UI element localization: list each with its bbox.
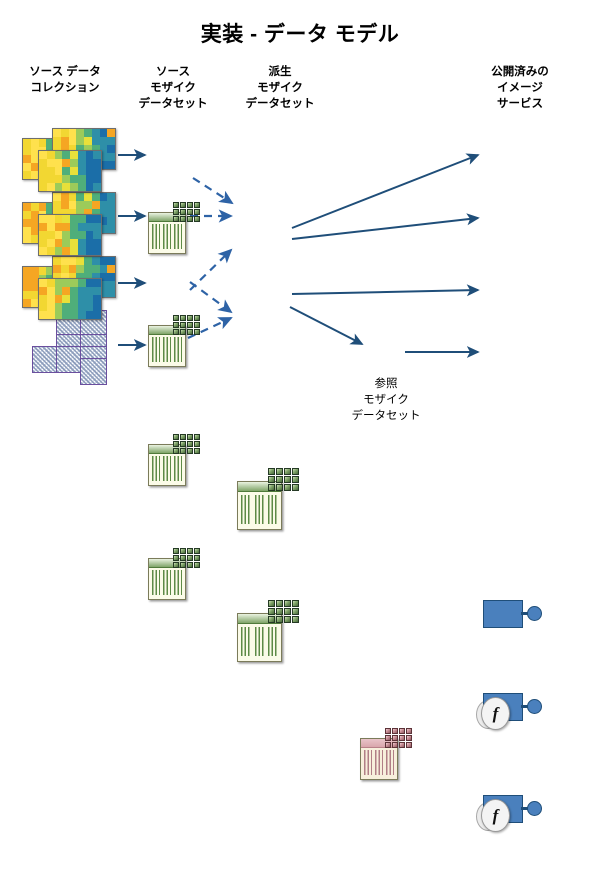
raster-cell [62,151,70,159]
mosaic-tile [385,742,391,748]
mosaic-tile [399,742,405,748]
raster-cell [62,295,70,303]
raster-cell [70,151,78,159]
mosaic-table-column [152,224,160,249]
mosaic-tile [180,216,186,222]
raster-cell [39,203,47,211]
mosaic-table-column [386,750,394,775]
mosaic-tile [292,484,299,491]
raster-cell [55,183,63,191]
source-mosaic-4[interactable] [148,548,200,600]
mosaic-table-column [163,570,171,595]
raster-cell [55,167,63,175]
raster-cell [62,159,70,167]
mosaic-tile [385,728,391,734]
raster-cell [39,247,47,255]
raster-cell [107,273,115,281]
column-header-line: サービス [455,96,585,112]
raster-cell [62,287,70,295]
service-endpoint-dot [527,801,542,816]
raster-cell [93,175,101,183]
arrow-mosaic1-to-derived1 [193,178,232,203]
mosaic-tile [292,616,299,623]
raster-cell [23,171,31,179]
mosaic-tile [292,600,299,607]
source-mosaic-3[interactable] [148,434,200,486]
raster-cell [93,231,101,239]
mosaic-tile [268,476,275,483]
raster-cell [62,247,70,255]
raster-cell [55,239,63,247]
arrow-derived1-to-service2 [292,218,478,239]
arrow-mosaic3-to-derived2 [190,282,231,312]
raster-cell [53,193,61,201]
mosaic-tile [173,562,179,568]
mosaic-tile-grid [173,202,200,222]
mosaic-tile [187,322,193,328]
raster-cell [53,265,61,273]
mosaic-tile [180,329,186,335]
raster-cell [61,193,69,201]
source-mosaic-2[interactable] [148,315,200,367]
raster-cell [39,311,47,319]
mosaic-tile-grid [173,315,200,335]
raster-cell [55,231,63,239]
raster-cell [47,183,55,191]
mosaic-tile [276,600,283,607]
mosaic-tile [194,209,200,215]
raster-cell [53,129,61,137]
raster-cell [78,311,86,319]
mosaic-table-column [255,495,264,524]
mosaic-table-column [241,495,250,524]
mosaic-tile [406,742,412,748]
mosaic-table-column [174,224,182,249]
raster-cell [23,155,31,163]
raster-cell [55,159,63,167]
mosaic-tile [292,476,299,483]
mosaic-tile [392,728,398,734]
column-header-line: コレクション [10,80,120,96]
raster-cell [47,223,55,231]
mosaic-tile [194,322,200,328]
arrow-mosaic3-to-derived1 [190,250,231,290]
raster-cell [70,183,78,191]
raster-cell [78,223,86,231]
raster-cell [62,167,70,175]
raster-cell [107,129,115,137]
raster-cell [107,145,115,153]
raster-cell [39,139,47,147]
raster-cell [107,153,115,161]
raster-cell [86,303,94,311]
raster-cell [100,201,108,209]
mosaic-tile [385,735,391,741]
raster-cell [76,257,84,265]
service-endpoint-dot [527,606,542,621]
mosaic-tile [194,315,200,321]
raster-cell [78,175,86,183]
column-header-derived-mosaic-dataset: 派生 モザイク データセット [225,64,335,112]
source-collection-2[interactable] [22,192,122,254]
mosaic-tile [187,448,193,454]
raster-cell [39,279,47,287]
column-header-line: モザイク [125,80,221,96]
mosaic-tile [173,448,179,454]
caption-line: データセット [306,408,466,424]
raster-thumbnail [38,150,102,192]
raster-cell [86,239,94,247]
mosaic-tile [276,468,283,475]
raster-cell [23,163,31,171]
mosaic-tile [180,202,186,208]
arrow-derived2-to-referenced [290,307,362,344]
raster-cell [69,257,77,265]
source-collection-1[interactable] [22,128,122,190]
raster-cell [23,219,31,227]
raster-cell [39,287,47,295]
raster-cell [84,265,92,273]
raster-cell [70,295,78,303]
raster-cell [78,231,86,239]
raster-cell [55,223,63,231]
raster-cell [47,303,55,311]
mosaic-tile [187,555,193,561]
raster-cell [62,223,70,231]
raster-cell [107,137,115,145]
raster-cell [76,201,84,209]
raster-cell [100,265,108,273]
raster-cell [47,167,55,175]
raster-cell [55,303,63,311]
mosaic-table-column [152,570,160,595]
raster-cell [107,289,115,297]
raster-cell [62,311,70,319]
tile [80,358,107,385]
raster-cell [86,183,94,191]
mosaic-table-column [163,456,171,481]
raster-cell [86,231,94,239]
column-header-line: 派生 [225,64,335,80]
raster-cell [84,201,92,209]
raster-cell [70,247,78,255]
mosaic-tile [284,476,291,483]
raster-cell [62,303,70,311]
raster-cell [70,167,78,175]
column-header-line: データセット [225,96,335,112]
image-service-3[interactable]: f [483,793,541,823]
tile [56,346,83,373]
mosaic-table-rows [152,337,182,362]
raster-cell [53,201,61,209]
raster-cell [55,311,63,319]
mosaic-tile [187,216,193,222]
raster-cell [86,247,94,255]
tile [32,346,59,373]
mosaic-tile [399,735,405,741]
referenced-mosaic[interactable] [360,728,412,780]
raster-cell [55,175,63,183]
mosaic-tile-grid [173,434,200,454]
raster-cell [78,151,86,159]
mosaic-table-column [268,495,277,524]
mosaic-tile [292,608,299,615]
raster-cell [78,295,86,303]
column-header-line: モザイク [225,80,335,96]
raster-cell [107,217,115,225]
mosaic-table-column [152,337,160,362]
raster-cell [23,227,31,235]
raster-cell [86,215,94,223]
column-header-line: データセット [125,96,221,112]
raster-cell [23,211,31,219]
raster-cell [78,239,86,247]
mosaic-tile [180,555,186,561]
mosaic-tile-grid [173,548,200,568]
mosaic-tile [194,448,200,454]
raster-cell [92,265,100,273]
raster-cell [78,287,86,295]
raster-cell [39,175,47,183]
raster-cell [47,311,55,319]
mosaic-tile [180,548,186,554]
raster-cell [62,231,70,239]
raster-cell [61,265,69,273]
raster-cell [86,175,94,183]
mosaic-tile [276,484,283,491]
mosaic-table-column [268,627,277,656]
service-endpoint-dot [527,699,542,714]
raster-cell [70,287,78,295]
raster-cell [70,215,78,223]
mosaic-tile [276,616,283,623]
mosaic-table-rows [152,224,182,249]
raster-cell [31,139,39,147]
raster-cell [62,239,70,247]
raster-cell [61,257,69,265]
raster-cell [55,151,63,159]
raster-cell [76,137,84,145]
mosaic-tile [187,548,193,554]
raster-cell [93,167,101,175]
mosaic-tile [173,548,179,554]
raster-cell [78,247,86,255]
mosaic-tile [284,468,291,475]
raster-cell [55,247,63,255]
raster-cell [39,215,47,223]
source-collection-3[interactable] [22,256,122,318]
mosaic-tile [194,548,200,554]
mosaic-tile [173,322,179,328]
caption-line: 参照 [306,376,466,392]
raster-cell [93,239,101,247]
raster-cell [78,167,86,175]
raster-cell [107,257,115,265]
raster-cell [70,303,78,311]
raster-cell [70,239,78,247]
derived-mosaic-2[interactable] [237,600,299,662]
raster-cell [93,159,101,167]
mosaic-tile [187,209,193,215]
mosaic-table-column [152,456,160,481]
raster-cell [70,311,78,319]
mosaic-tile [194,329,200,335]
mosaic-tile [187,329,193,335]
mosaic-table-column [375,750,383,775]
raster-cell [100,137,108,145]
page-title: 実装 - データ モデル [0,18,600,48]
referenced-mosaic-caption: 参照 モザイク データセット [306,376,466,424]
raster-cell [53,257,61,265]
raster-cell [23,203,31,211]
raster-cell [92,129,100,137]
mosaic-table-column [174,456,182,481]
column-header-source-data-collection: ソース データ コレクション [10,64,120,96]
raster-cell [70,159,78,167]
raster-cell [84,193,92,201]
mosaic-tile [284,608,291,615]
mosaic-tile [180,441,186,447]
raster-cell [55,295,63,303]
raster-cell [100,193,108,201]
mosaic-tile [268,600,275,607]
raster-cell [107,209,115,217]
mosaic-tile [187,315,193,321]
mosaic-tile [392,742,398,748]
raster-cell [86,151,94,159]
raster-cell [39,159,47,167]
raster-cell [92,257,100,265]
mosaic-tile [187,202,193,208]
mosaic-tile [180,209,186,215]
raster-cell [39,267,47,275]
raster-cell [69,193,77,201]
column-header-line: 公開済みの [455,64,585,80]
raster-cell [39,183,47,191]
raster-cell [69,265,77,273]
raster-cell [55,279,63,287]
raster-cell [23,283,31,291]
raster-cell [39,231,47,239]
raster-cell [47,231,55,239]
mosaic-tile [268,616,275,623]
raster-cell [39,167,47,175]
mosaic-tile [180,562,186,568]
mosaic-tile [406,728,412,734]
mosaic-tile [194,441,200,447]
mosaic-tile [173,216,179,222]
mosaic-table-rows [241,627,277,656]
raster-cell [61,129,69,137]
mosaic-tile [284,600,291,607]
raster-cell [47,295,55,303]
raster-cell [78,279,86,287]
raster-cell [31,203,39,211]
mosaic-tile-grid [268,600,299,623]
raster-thumbnail [38,278,102,320]
source-collection-4[interactable] [30,310,106,384]
mosaic-table-column [174,570,182,595]
mosaic-tile [284,616,291,623]
mosaic-table-rows [364,750,394,775]
raster-cell [47,175,55,183]
mosaic-tile [268,468,275,475]
raster-cell [107,225,115,233]
raster-cell [78,159,86,167]
raster-cell [69,129,77,137]
mosaic-tile [276,608,283,615]
raster-cell [93,247,101,255]
raster-cell [86,159,94,167]
raster-cell [107,201,115,209]
raster-cell [92,193,100,201]
raster-cell [39,303,47,311]
caption-line: モザイク [306,392,466,408]
mosaic-table-column [163,224,171,249]
raster-cell [69,137,77,145]
raster-cell [86,287,94,295]
raster-cell [100,257,108,265]
mosaic-tile [276,476,283,483]
raster-cell [76,193,84,201]
raster-cell [23,267,31,275]
image-service-2[interactable]: f [483,691,541,721]
raster-cell [39,295,47,303]
raster-cell [53,137,61,145]
raster-cell [93,303,101,311]
raster-cell [78,303,86,311]
raster-cell [86,311,94,319]
raster-cell [84,257,92,265]
mosaic-tile [194,555,200,561]
raster-cell [84,137,92,145]
mosaic-tile [284,484,291,491]
column-header-line: ソース [125,64,221,80]
image-service-1[interactable] [483,598,541,628]
raster-cell [62,183,70,191]
mosaic-table-rows [241,495,277,524]
mosaic-tile-grid [385,728,412,748]
raster-cell [47,247,55,255]
raster-cell [23,291,31,299]
mosaic-tile [392,735,398,741]
derived-mosaic-1[interactable] [237,468,299,530]
source-mosaic-1[interactable] [148,202,200,254]
raster-cell [107,265,115,273]
column-header-source-mosaic-dataset: ソース モザイク データセット [125,64,221,112]
raster-cell [93,151,101,159]
raster-cell [47,287,55,295]
raster-cell [70,175,78,183]
raster-cell [92,201,100,209]
arrow-derived1-to-service1 [292,155,478,228]
raster-cell [86,295,94,303]
raster-cell [55,287,63,295]
function-icon: f [481,799,510,832]
mosaic-table-column [163,337,171,362]
mosaic-tile [173,441,179,447]
raster-cell [39,239,47,247]
raster-cell [61,137,69,145]
mosaic-tile [180,322,186,328]
mosaic-table-column [364,750,372,775]
mosaic-tile [173,555,179,561]
mosaic-tile [173,202,179,208]
raster-cell [76,265,84,273]
raster-cell [23,139,31,147]
raster-cell [31,267,39,275]
raster-cell [86,279,94,287]
